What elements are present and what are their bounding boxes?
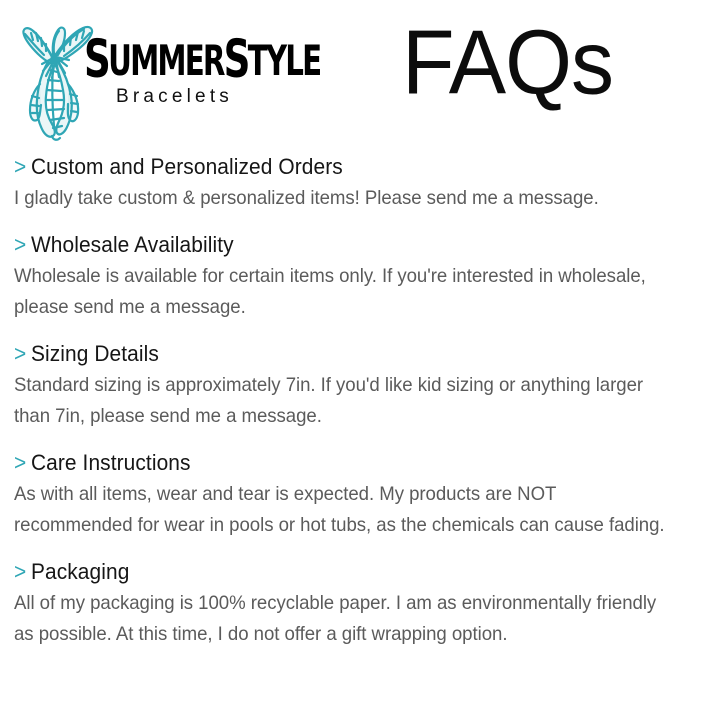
chevron-right-icon: >	[14, 450, 26, 475]
faq-item-wholesale: >Wholesale Availability Wholesale is ava…	[0, 230, 720, 323]
faq-item-packaging: >Packaging All of my packaging is 100% r…	[0, 557, 720, 650]
faq-heading-label: Care Instructions	[31, 450, 191, 475]
faq-heading-label: Sizing Details	[31, 341, 159, 366]
faq-page: SUMMERSTYLE Bracelets FAQs >Custom and P…	[0, 0, 720, 720]
faq-body: All of my packaging is 100% recyclable p…	[14, 588, 673, 650]
faq-body: I gladly take custom & personalized item…	[14, 183, 673, 214]
faq-heading-label: Wholesale Availability	[31, 232, 234, 257]
page-title: FAQs	[402, 14, 613, 112]
chevron-right-icon: >	[14, 559, 26, 584]
brand-name-ummer: UMMER	[108, 37, 223, 85]
chevron-right-icon: >	[14, 154, 26, 179]
faq-heading: >Sizing Details	[14, 339, 670, 368]
brand-wordmark: SUMMERSTYLE Bracelets	[84, 38, 306, 128]
brand-name-cap-s2: S	[224, 29, 248, 91]
faq-item-care: >Care Instructions As with all items, we…	[0, 448, 720, 541]
chevron-right-icon: >	[14, 232, 26, 257]
brand-name-cap-s1: S	[84, 29, 108, 91]
brand-subtitle: Bracelets	[116, 86, 233, 108]
faq-heading: >Wholesale Availability	[14, 230, 670, 259]
faq-heading-label: Packaging	[31, 559, 129, 584]
brand-logo: SUMMERSTYLE Bracelets	[8, 8, 308, 140]
faq-heading: >Care Instructions	[14, 448, 670, 477]
faq-body: Wholesale is available for certain items…	[14, 261, 673, 323]
faq-list: >Custom and Personalized Orders I gladly…	[0, 152, 720, 650]
faq-item-sizing: >Sizing Details Standard sizing is appro…	[0, 339, 720, 432]
chevron-right-icon: >	[14, 341, 26, 366]
faq-heading-label: Custom and Personalized Orders	[31, 154, 343, 179]
faq-item-custom-orders: >Custom and Personalized Orders I gladly…	[0, 152, 720, 214]
faq-body: Standard sizing is approximately 7in. If…	[14, 370, 673, 432]
brand-name: SUMMERSTYLE	[84, 38, 279, 84]
brand-name-tyle: TYLE	[248, 37, 320, 85]
faq-heading: >Custom and Personalized Orders	[14, 152, 670, 181]
page-header: SUMMERSTYLE Bracelets FAQs	[0, 0, 720, 150]
faq-heading: >Packaging	[14, 557, 670, 586]
faq-body: As with all items, wear and tear is expe…	[14, 479, 673, 541]
